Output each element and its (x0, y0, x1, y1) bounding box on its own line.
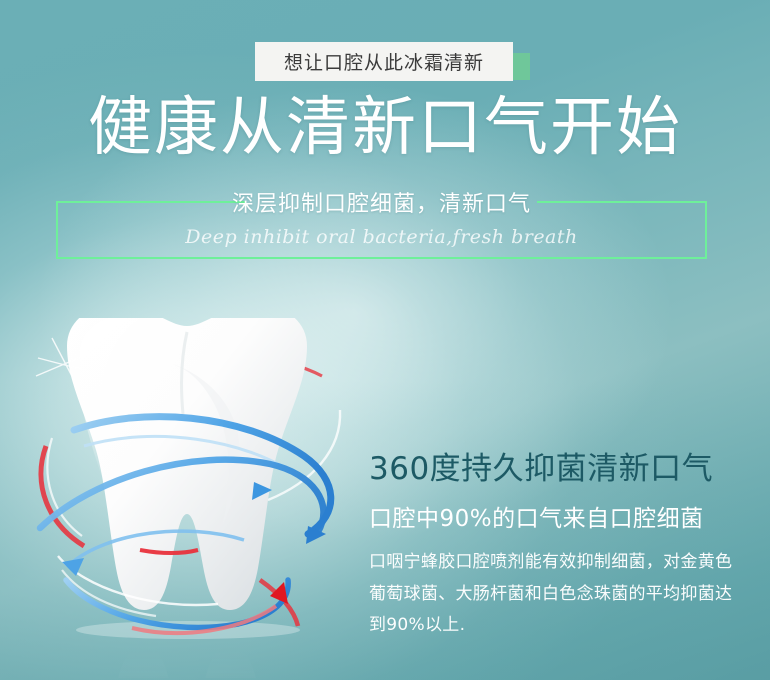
feature-body: 口咽宁蜂胶口腔喷剂能有效抑制细菌，对金黄色葡萄球菌、大肠杆菌和白色念珠菌的平均抑… (369, 547, 744, 641)
feature-text-column: 360度持久抑菌清新口气 口腔中90%的口气来自口腔细菌 口咽宁蜂胶口腔喷剂能有… (369, 452, 759, 641)
tooth-illustration (22, 318, 352, 678)
frame-edge-bottom (56, 257, 707, 259)
top-banner: 想让口腔从此冰霜清新 (255, 42, 530, 82)
subtitle-chinese: 深层抑制口腔细菌，清新口气 (56, 186, 707, 218)
hero-headline: 健康从清新口气开始 (0, 96, 770, 160)
subtitle-frame: 深层抑制口腔细菌，清新口气 Deep inhibit oral bacteria… (56, 201, 707, 259)
product-promo-page: 想让口腔从此冰霜清新 健康从清新口气开始 深层抑制口腔细菌，清新口气 Deep … (0, 0, 770, 680)
feature-heading: 360度持久抑菌清新口气 (369, 452, 759, 486)
tooth-graphic (22, 318, 352, 678)
feature-subheading: 口腔中90%的口气来自口腔细菌 (369, 499, 759, 533)
banner-box: 想让口腔从此冰霜清新 (255, 42, 513, 81)
subtitle-english: Deep inhibit oral bacteria,fresh breath (56, 226, 707, 248)
banner-text: 想让口腔从此冰霜清新 (284, 48, 484, 75)
